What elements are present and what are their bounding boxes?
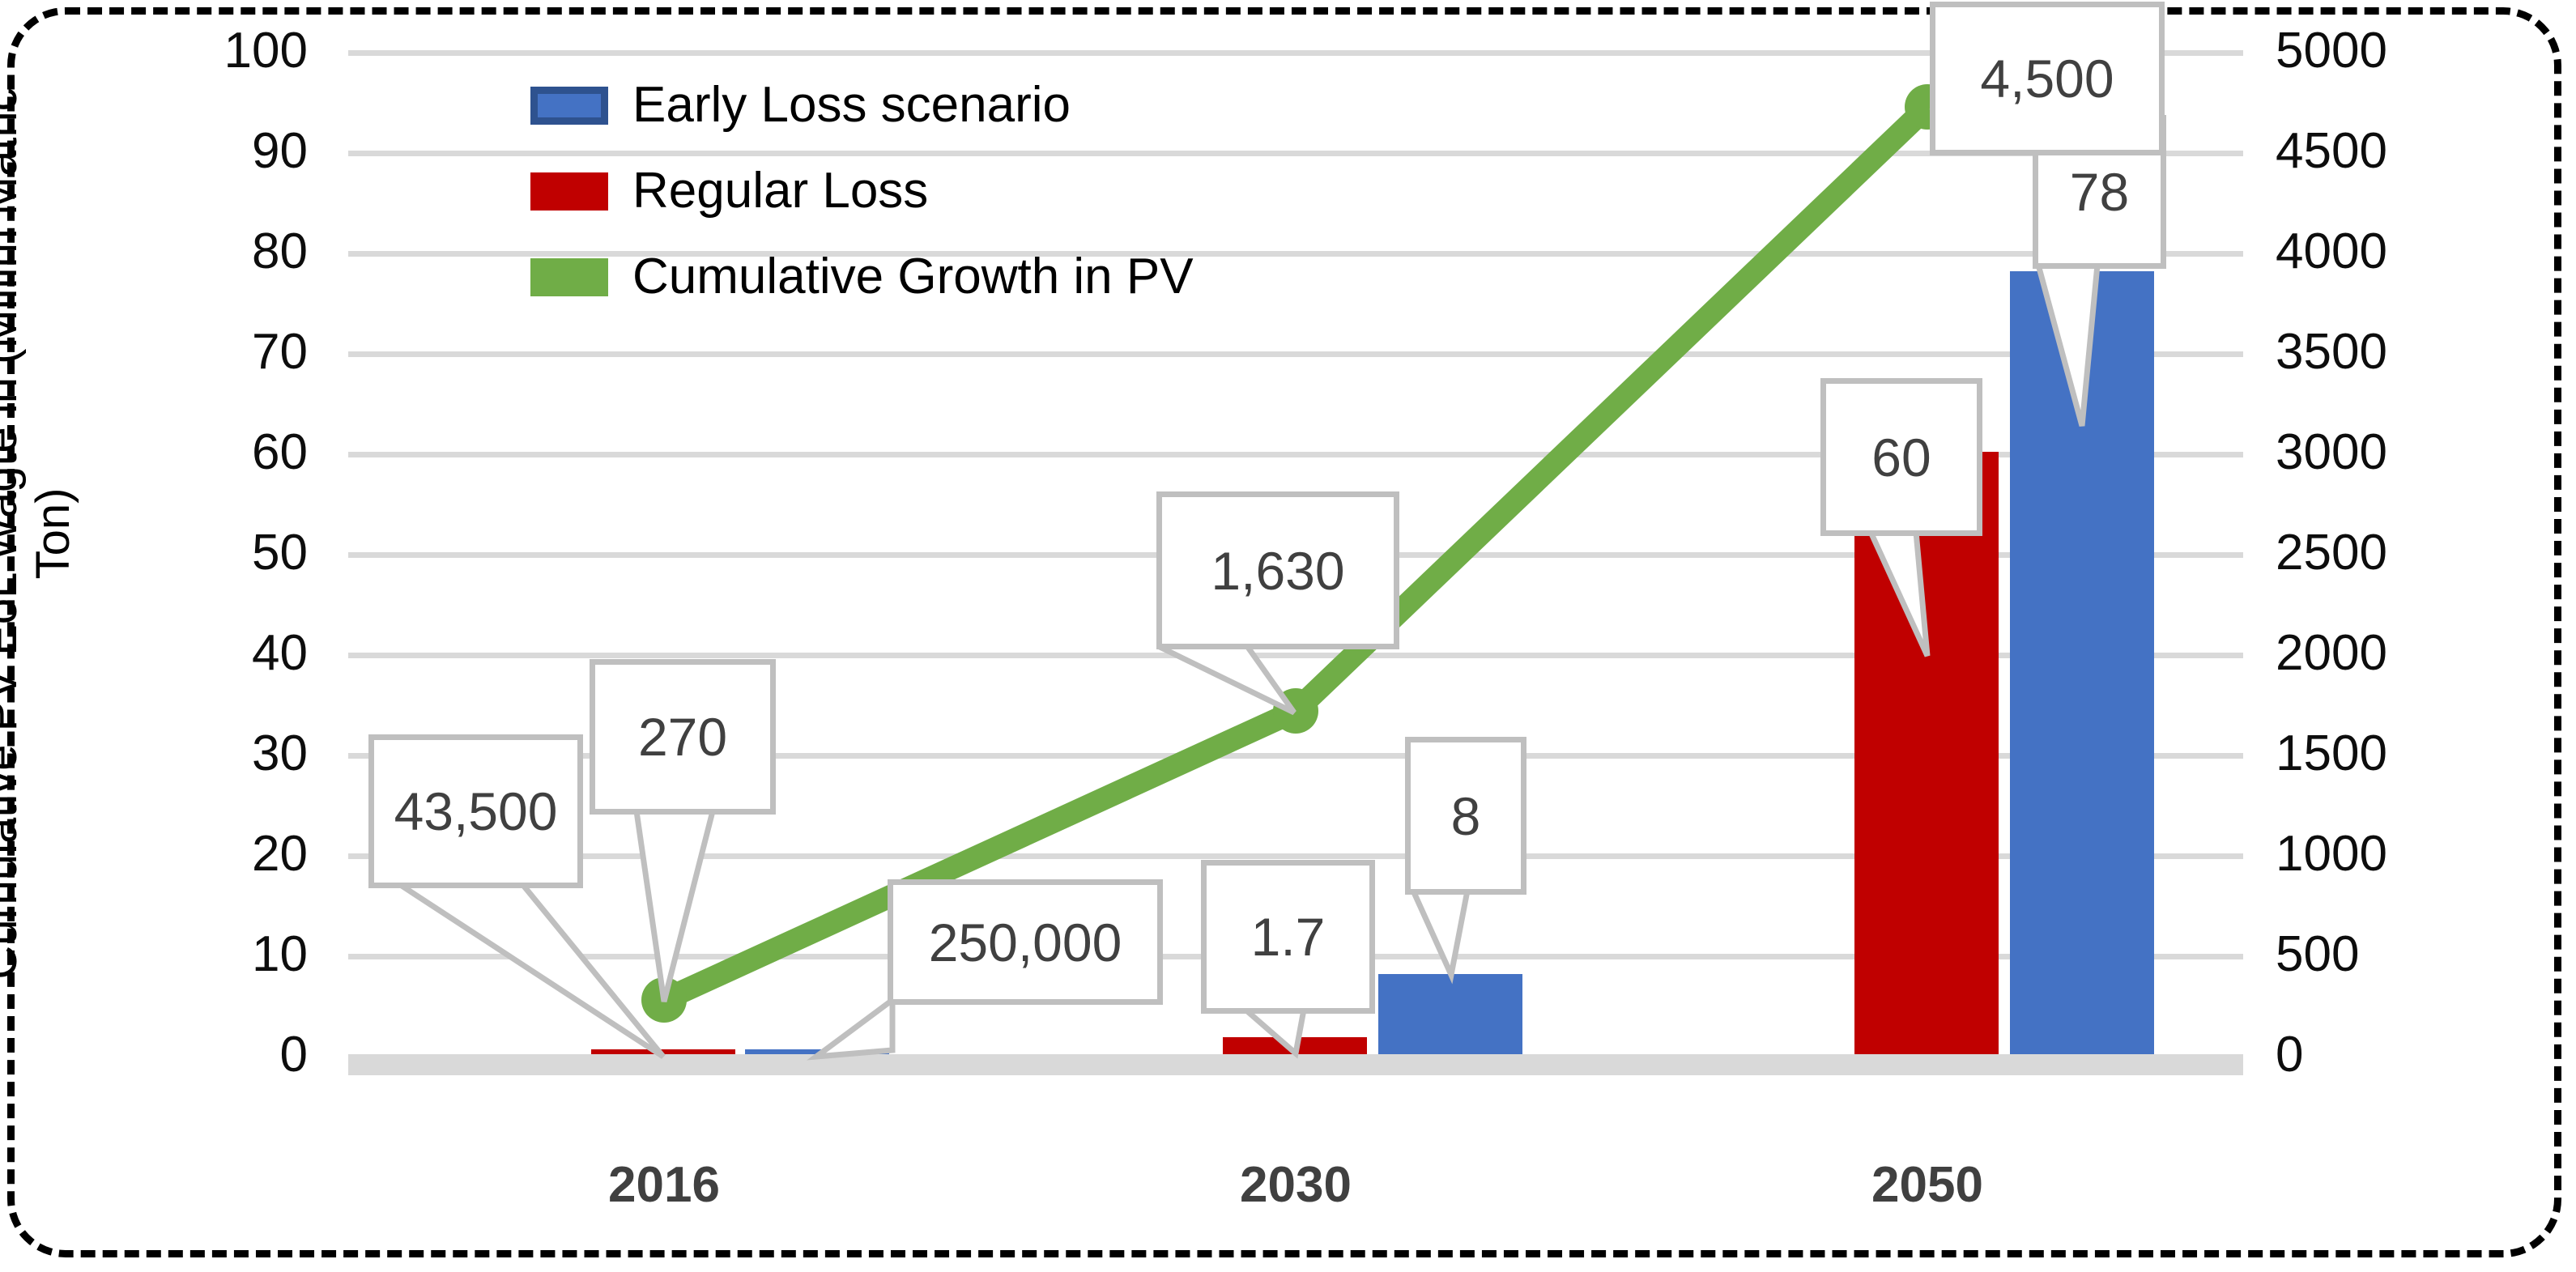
- legend-label-regular-loss: Regular Loss: [632, 166, 928, 216]
- legend-item-early-loss[interactable]: Early Loss scenario: [530, 79, 1194, 131]
- callout-regular-loss-2030[interactable]: 1.7: [1201, 860, 1375, 1014]
- legend-label-early-loss: Early Loss scenario: [632, 80, 1071, 130]
- left-axis-tick: 50: [146, 528, 308, 578]
- right-axis-tick: 500: [2276, 930, 2462, 980]
- left-axis-tick: 80: [146, 227, 308, 277]
- callout-growth-2050[interactable]: 4,500: [1930, 2, 2165, 155]
- bar-early-loss-2050[interactable]: [2010, 271, 2154, 1054]
- bar-early-loss-2030[interactable]: [1378, 974, 1522, 1054]
- callout-early-loss-2030[interactable]: 8: [1405, 737, 1526, 895]
- chart-page: 100 90 80 70 60 50 40 30 20 10 0 5000 45…: [0, 0, 2576, 1272]
- bar-early-loss-2016[interactable]: [745, 1049, 889, 1054]
- legend-swatch-blue-icon: [530, 87, 608, 125]
- left-axis-title: Cumulative PV EoL Wagte in (Millim Matri…: [0, 32, 80, 1036]
- legend-item-regular-loss[interactable]: Regular Loss: [530, 165, 1194, 217]
- callout-growth-2016[interactable]: 270: [590, 659, 776, 815]
- legend-item-cumulative-growth[interactable]: Cumulative Growth in PV: [530, 251, 1194, 303]
- zero-baseline: [348, 1054, 2243, 1075]
- x-axis-label-2050: 2050: [1806, 1156, 2049, 1214]
- right-axis-tick: 2500: [2276, 528, 2462, 578]
- callout-early-loss-2016[interactable]: 250,000: [888, 879, 1163, 1005]
- right-axis-tick: 4000: [2276, 227, 2462, 277]
- left-axis-tick: 0: [146, 1030, 308, 1080]
- legend-label-cumulative-growth: Cumulative Growth in PV: [632, 252, 1194, 302]
- right-axis-tick: 3500: [2276, 327, 2462, 377]
- left-axis-tick: 30: [146, 729, 308, 779]
- right-axis-tick: 1000: [2276, 829, 2462, 879]
- left-axis-tick: 40: [146, 628, 308, 679]
- left-axis-tick: 10: [146, 930, 308, 980]
- legend-swatch-red-icon: [530, 172, 608, 211]
- x-axis-label-2030: 2030: [1174, 1156, 1417, 1214]
- callout-growth-2030[interactable]: 1,630: [1156, 491, 1399, 649]
- right-axis-tick: 1500: [2276, 729, 2462, 779]
- x-axis-label-2016: 2016: [543, 1156, 786, 1214]
- bar-regular-loss-2016[interactable]: [591, 1049, 735, 1054]
- callout-regular-loss-2050[interactable]: 60: [1820, 378, 1982, 536]
- left-axis-tick: 60: [146, 428, 308, 478]
- right-axis-tick: 4500: [2276, 126, 2462, 177]
- legend-swatch-green-icon: [530, 258, 608, 296]
- right-axis-tick: 3000: [2276, 428, 2462, 478]
- legend: Early Loss scenario Regular Loss Cumulat…: [530, 79, 1194, 337]
- callout-regular-loss-2016[interactable]: 43,500: [368, 734, 583, 888]
- right-axis-tick: 0: [2276, 1030, 2462, 1080]
- left-axis-tick: 70: [146, 327, 308, 377]
- left-axis-tick: 90: [146, 126, 308, 177]
- right-axis-tick: 2000: [2276, 628, 2462, 679]
- bar-regular-loss-2050[interactable]: [1854, 452, 1999, 1054]
- bar-regular-loss-2030[interactable]: [1223, 1037, 1367, 1054]
- left-axis-tick: 20: [146, 829, 308, 879]
- right-axis-tick: 5000: [2276, 26, 2462, 76]
- left-axis-tick: 100: [146, 26, 308, 76]
